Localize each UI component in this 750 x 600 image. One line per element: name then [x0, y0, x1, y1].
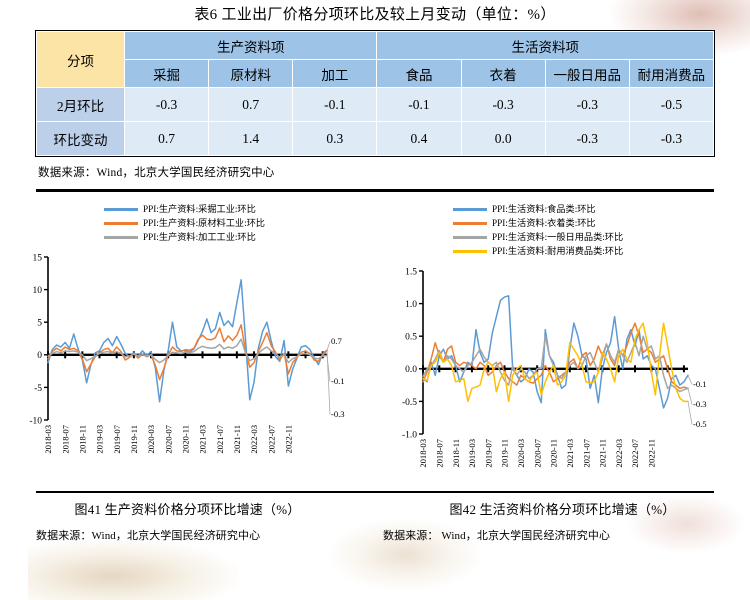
svg-text:2022-03: 2022-03 [249, 425, 259, 454]
svg-text:2018-03: 2018-03 [418, 439, 428, 468]
svg-text:2020-03: 2020-03 [146, 425, 156, 454]
svg-text:-0.3: -0.3 [693, 399, 707, 409]
svg-text:-0.1: -0.1 [331, 376, 345, 386]
svg-text:2020-07: 2020-07 [163, 424, 173, 453]
cell-r1c3: 0.4 [377, 122, 461, 156]
chart-figure-41: PPI:生产资料:采掘工业:环比 PPI:生产资料:原材料工业:环比 PPI:生… [0, 192, 375, 489]
svg-text:2022-03: 2022-03 [614, 439, 624, 468]
legend-swatch-line-icon [453, 222, 487, 225]
svg-text:2018-07: 2018-07 [435, 438, 445, 467]
svg-text:-1.0: -1.0 [402, 430, 417, 440]
table-corner-label: 分项 [37, 32, 125, 88]
legend-item: PPI:生活资料:食品类:环比 [453, 203, 750, 216]
legend-label: PPI:生产资料:原材料工业:环比 [143, 217, 265, 230]
legend-item: PPI:生产资料:原材料工业:环比 [104, 217, 375, 230]
svg-text:-5: -5 [34, 383, 42, 393]
cell-r1c4: 0.0 [461, 122, 545, 156]
legend-swatch-line-icon [104, 208, 138, 211]
svg-text:2022-11: 2022-11 [284, 425, 294, 453]
svg-text:0.0: 0.0 [405, 365, 417, 375]
figure-source-41: 数据来源：Wind，北京大学国民经济研究中心 [36, 527, 375, 543]
sub-header-caijue: 采掘 [125, 60, 209, 88]
row-label-mom-change: 环比变动 [37, 122, 125, 156]
group-header-living: 生活资料项 [377, 32, 714, 60]
legend-item: PPI:生活资料:耐用消费品类:环比 [453, 245, 750, 258]
sub-header-yizhuo: 衣着 [461, 60, 545, 88]
cell-r1c6: -0.3 [629, 122, 713, 156]
svg-text:2019-07: 2019-07 [112, 424, 122, 453]
legend-item: PPI:生活资料:衣着类:环比 [453, 217, 750, 230]
svg-text:2022-07: 2022-07 [630, 438, 640, 467]
svg-text:0: 0 [37, 351, 42, 361]
group-header-production: 生产资料项 [125, 32, 377, 60]
svg-text:0.5: 0.5 [405, 332, 417, 342]
cell-r1c2: 0.3 [293, 122, 377, 156]
cell-r0c1: 0.7 [209, 88, 293, 122]
svg-text:0.7: 0.7 [331, 336, 342, 346]
chart-figure-42: PPI:生活资料:食品类:环比 PPI:生活资料:衣着类:环比 PPI:生活资料… [375, 192, 750, 489]
svg-text:-0.1: -0.1 [693, 379, 707, 389]
cell-r1c5: -0.3 [545, 122, 629, 156]
legend-item: PPI:生活资料:一般日用品类:环比 [453, 231, 750, 244]
caption-block-41: 图41 生产资料价格分项环比增速（%） 数据来源：Wind，北京大学国民经济研究… [0, 493, 375, 543]
figure-source-42: 数据来源： Wind，北京大学国民经济研究中心 [383, 527, 750, 543]
row-label-feb-mom: 2月环比 [37, 88, 125, 122]
cell-r0c0: -0.3 [125, 88, 209, 122]
svg-text:2021-03: 2021-03 [565, 439, 575, 468]
line-chart-42-svg: -1.0-0.50.00.51.01.52018-032018-072018-1… [375, 259, 750, 484]
table-title: 表6 工业出厂价格分项环比及较上月变动（单位：%） [0, 0, 750, 30]
legend-label: PPI:生产资料:采掘工业:环比 [143, 203, 256, 216]
table-row: 2月环比 -0.3 0.7 -0.1 -0.1 -0.3 -0.3 -0.5 [37, 88, 714, 122]
sub-header-riyongpin: 一般日用品 [545, 60, 629, 88]
svg-text:2021-11: 2021-11 [232, 425, 242, 453]
table-header-row-subs: 采掘 原材料 加工 食品 衣着 一般日用品 耐用消费品 [37, 60, 714, 88]
legend-swatch-line-icon [453, 208, 487, 211]
svg-text:2021-11: 2021-11 [598, 439, 608, 467]
cell-r1c1: 1.4 [209, 122, 293, 156]
legend-label: PPI:生活资料:耐用消费品类:环比 [492, 245, 623, 258]
svg-text:2019-03: 2019-03 [95, 425, 105, 454]
legend-swatch-line-icon [453, 236, 487, 239]
svg-text:2020-07: 2020-07 [532, 438, 542, 467]
svg-text:15: 15 [33, 253, 43, 263]
svg-text:2019-03: 2019-03 [467, 439, 477, 468]
legend-swatch-line-icon [453, 250, 487, 253]
svg-text:2020-03: 2020-03 [516, 439, 526, 468]
svg-text:5: 5 [37, 318, 42, 328]
svg-text:2018-11: 2018-11 [451, 439, 461, 467]
svg-text:-0.5: -0.5 [402, 397, 417, 407]
svg-text:2021-07: 2021-07 [581, 438, 591, 467]
svg-text:2019-11: 2019-11 [129, 425, 139, 453]
svg-text:2021-03: 2021-03 [198, 425, 208, 454]
svg-text:-10: -10 [29, 416, 42, 426]
legend-chart-42: PPI:生活资料:食品类:环比 PPI:生活资料:衣着类:环比 PPI:生活资料… [375, 192, 750, 258]
sub-header-jiagong: 加工 [293, 60, 377, 88]
line-chart-41-svg: -10-50510152018-032018-072018-112019-032… [0, 245, 375, 470]
report-page: 表6 工业出厂价格分项环比及较上月变动（单位：%） 分项 生产资料项 生活资料项… [0, 0, 750, 594]
svg-text:10: 10 [33, 286, 43, 296]
legend-chart-41: PPI:生产资料:采掘工业:环比 PPI:生产资料:原材料工业:环比 PPI:生… [0, 192, 375, 244]
table-header-row-groups: 分项 生产资料项 生活资料项 [37, 32, 714, 60]
ppi-breakdown-table: 分项 生产资料项 生活资料项 采掘 原材料 加工 食品 衣着 一般日用品 耐用消… [36, 31, 714, 156]
svg-text:2020-11: 2020-11 [181, 425, 191, 453]
cell-r0c3: -0.1 [377, 88, 461, 122]
legend-label: PPI:生产资料:加工工业:环比 [143, 231, 256, 244]
cell-r0c5: -0.3 [545, 88, 629, 122]
figure-caption-42: 图42 生活资料价格分项环比增速（%） [375, 499, 750, 518]
table-container: 分项 生产资料项 生活资料项 采掘 原材料 加工 食品 衣着 一般日用品 耐用消… [35, 30, 715, 157]
svg-text:2018-03: 2018-03 [43, 425, 53, 454]
legend-swatch-line-icon [104, 222, 138, 225]
svg-text:2020-11: 2020-11 [549, 439, 559, 467]
cell-r0c2: -0.1 [293, 88, 377, 122]
cell-r0c4: -0.3 [461, 88, 545, 122]
svg-text:1.5: 1.5 [405, 267, 417, 277]
plot-area-42: -1.0-0.50.00.51.01.52018-032018-072018-1… [375, 259, 750, 489]
figure-caption-41: 图41 生产资料价格分项环比增速（%） [0, 499, 375, 518]
svg-text:2019-07: 2019-07 [483, 438, 493, 467]
table-source-note: 数据来源：Wind，北京大学国民经济研究中心 [38, 164, 750, 180]
legend-label: PPI:生活资料:衣着类:环比 [492, 217, 596, 230]
legend-item: PPI:生产资料:采掘工业:环比 [104, 203, 375, 216]
svg-text:-0.5: -0.5 [693, 419, 707, 429]
legend-label: PPI:生活资料:一般日用品类:环比 [492, 231, 623, 244]
svg-text:2022-07: 2022-07 [266, 424, 276, 453]
plot-area-41: -10-50510152018-032018-072018-112019-032… [0, 245, 375, 475]
svg-text:2019-11: 2019-11 [500, 439, 510, 467]
captions-row: 图41 生产资料价格分项环比增速（%） 数据来源：Wind，北京大学国民经济研究… [0, 493, 750, 543]
legend-swatch-line-icon [104, 236, 138, 239]
sub-header-naiyong: 耐用消费品 [629, 60, 713, 88]
sub-header-shipin: 食品 [377, 60, 461, 88]
svg-text:-0.3: -0.3 [331, 409, 345, 419]
charts-row: PPI:生产资料:采掘工业:环比 PPI:生产资料:原材料工业:环比 PPI:生… [0, 192, 750, 489]
cell-r0c6: -0.5 [629, 88, 713, 122]
caption-block-42: 图42 生活资料价格分项环比增速（%） 数据来源： Wind，北京大学国民经济研… [375, 493, 750, 543]
cell-r1c0: 0.7 [125, 122, 209, 156]
svg-text:2022-11: 2022-11 [647, 439, 657, 467]
svg-text:1.0: 1.0 [405, 300, 417, 310]
svg-text:2018-07: 2018-07 [60, 424, 70, 453]
legend-label: PPI:生活资料:食品类:环比 [492, 203, 596, 216]
legend-item: PPI:生产资料:加工工业:环比 [104, 231, 375, 244]
table-row: 环比变动 0.7 1.4 0.3 0.4 0.0 -0.3 -0.3 [37, 122, 714, 156]
svg-text:2021-07: 2021-07 [215, 424, 225, 453]
svg-text:2018-11: 2018-11 [78, 425, 88, 453]
sub-header-yuancailiao: 原材料 [209, 60, 293, 88]
